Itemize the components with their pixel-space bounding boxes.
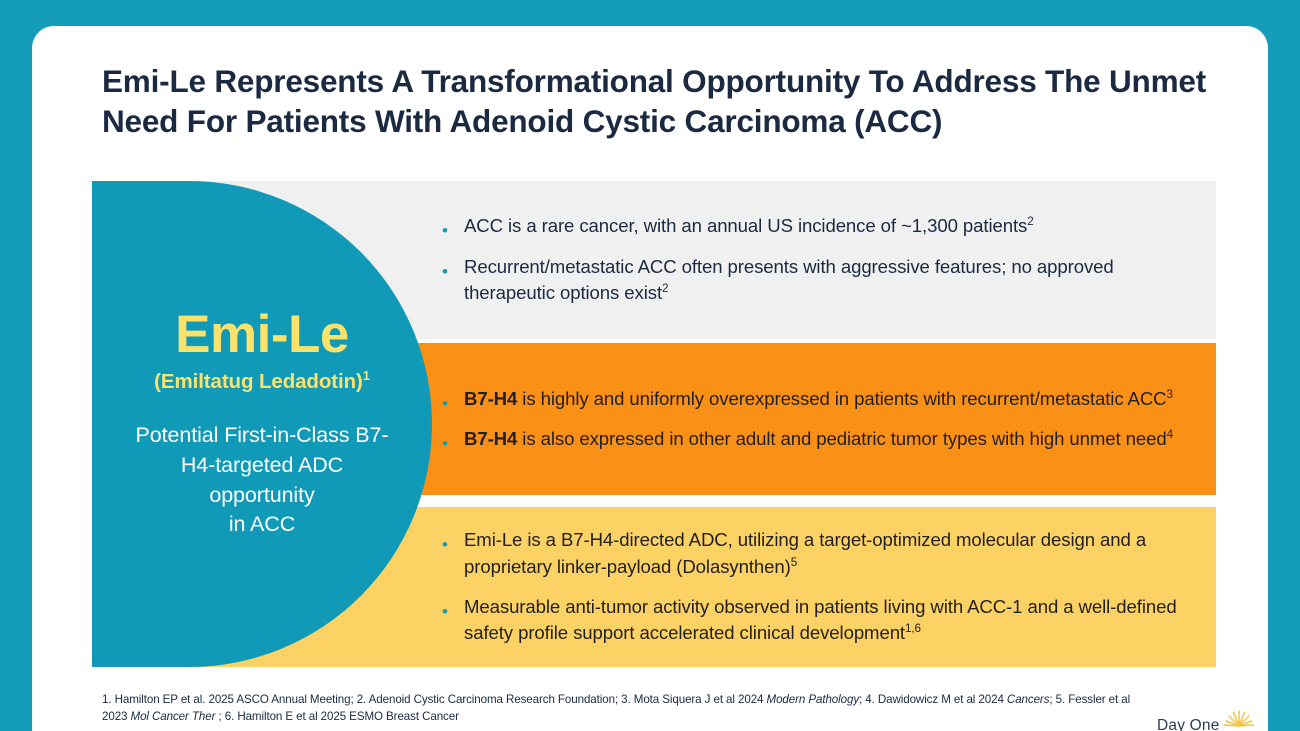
brand-generic-name: (Emiltatug Ledadotin)1 <box>154 371 370 394</box>
slide-content: • ACC is a rare cancer, with an annual U… <box>32 26 1268 731</box>
list-item: • B7-H4 is highly and uniformly overexpr… <box>442 386 1192 412</box>
bullet-dot-icon: • <box>442 527 464 553</box>
footnote-journal: Modern Pathology <box>767 693 860 706</box>
footnote-ref: 2 <box>1027 215 1033 228</box>
bullet-text: ACC is a rare cancer, with an annual US … <box>464 213 1192 239</box>
footnote-text: ; 4. Dawidowicz M et al 2024 <box>859 693 1007 706</box>
footnote-ref: 1,6 <box>905 622 921 635</box>
bullet-lead: B7-H4 <box>464 388 517 409</box>
list-item: • Emi-Le is a B7-H4-directed ADC, utiliz… <box>442 527 1192 580</box>
footnote-ref: 1 <box>363 368 370 383</box>
bullet-dot-icon: • <box>442 254 464 280</box>
list-item: • ACC is a rare cancer, with an annual U… <box>442 213 1192 239</box>
logo-wordmark: Day One <box>1157 717 1220 731</box>
bullet-dot-icon: • <box>442 386 464 412</box>
footnote-ref: 4 <box>1167 428 1173 441</box>
bullet-text: Measurable anti-tumor activity observed … <box>464 594 1192 647</box>
list-item: • Measurable anti-tumor activity observe… <box>442 594 1192 647</box>
footnote-ref: 3 <box>1167 387 1173 400</box>
bullet-text: B7-H4 is also expressed in other adult a… <box>464 426 1192 452</box>
company-logo: Day One BIOPHARMACEUTICALS <box>1157 706 1257 731</box>
bullet-dot-icon: • <box>442 426 464 452</box>
bullet-text: B7-H4 is highly and uniformly overexpres… <box>464 386 1192 412</box>
bullet-dot-icon: • <box>442 594 464 620</box>
list-item: • Recurrent/metastatic ACC often present… <box>442 254 1192 307</box>
footnote-ref: 2 <box>662 282 668 295</box>
footnote-text: ; 6. Hamilton E et al 2025 ESMO Breast C… <box>215 710 459 723</box>
list-item: • B7-H4 is also expressed in other adult… <box>442 426 1192 452</box>
footnote-text: 1. Hamilton EP et al. 2025 ASCO Annual M… <box>102 693 767 706</box>
bullet-text: Recurrent/metastatic ACC often presents … <box>464 254 1192 307</box>
bullet-lead: B7-H4 <box>464 428 517 449</box>
footnote-journal: Cancers <box>1007 693 1049 706</box>
brand-name: Emi-Le <box>175 308 349 361</box>
sunburst-icon <box>1221 704 1257 730</box>
footnote-ref: 5 <box>791 555 797 568</box>
slide-card: Emi-Le Represents A Transformational Opp… <box>32 26 1268 731</box>
brand-description: Potential First-in-Class B7- H4-targeted… <box>136 421 389 540</box>
footnote-references: 1. Hamilton EP et al. 2025 ASCO Annual M… <box>102 691 1142 726</box>
bullet-dot-icon: • <box>442 213 464 239</box>
bullet-text: Emi-Le is a B7-H4-directed ADC, utilizin… <box>464 527 1192 580</box>
footnote-journal: Mol Cancer Ther <box>131 710 216 723</box>
